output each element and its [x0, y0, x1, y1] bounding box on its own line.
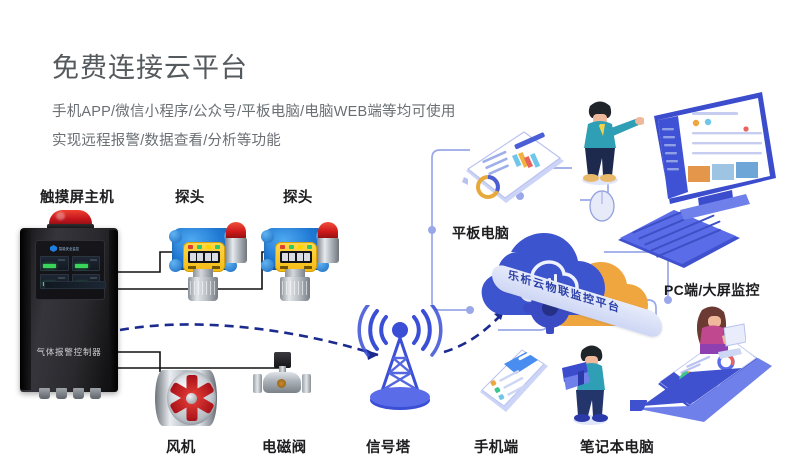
label-valve: 电磁阀: [262, 436, 306, 457]
probe-2-alarm-light-icon: [317, 222, 339, 264]
probe-lcd-display: [188, 251, 220, 263]
label-phone: 手机端: [474, 436, 518, 457]
channel-cell: [72, 256, 101, 271]
probe-sensor-head: [280, 277, 310, 301]
channel-cell: [40, 256, 69, 271]
label-fan: 风机: [166, 436, 196, 457]
signal-tower-icon: [352, 305, 448, 417]
probe-display-face: [183, 242, 225, 272]
gas-alarm-controller: 智能安全监控 气体报警控制器: [20, 228, 118, 398]
label-laptop: 笔记本电脑: [580, 436, 654, 457]
smartphone-icon: [474, 344, 554, 426]
controller-front-label: 气体报警控制器: [20, 346, 118, 358]
label-controller: 触摸屏主机: [40, 186, 114, 207]
person-holding-laptop-illustration: [558, 338, 620, 431]
probe-display-face: [275, 242, 317, 272]
controller-brand: 智能安全监控: [50, 244, 92, 253]
subtitle-line-1: 手机APP/微信小程序/公众号/平板电脑/电脑WEB端等均可使用: [52, 100, 456, 121]
probe-sensor-head: [188, 277, 218, 301]
cable-glands: [39, 388, 101, 400]
probe-1-alarm-light-icon: [225, 222, 247, 264]
label-probe-1: 探头: [175, 186, 205, 207]
infographic-canvas: 免费连接云平台 手机APP/微信小程序/公众号/平板电脑/电脑WEB端等均可使用…: [0, 0, 790, 476]
fan-icon: [155, 370, 217, 428]
solenoid-valve-icon: [251, 352, 313, 402]
label-tower: 信号塔: [366, 436, 410, 457]
label-pc: PC端/大屏监控: [664, 280, 760, 300]
person-using-laptop-illustration: [688, 302, 746, 377]
label-tablet: 平板电脑: [452, 223, 509, 243]
label-probe-2: 探头: [283, 186, 313, 207]
probe-indicator-leds: [280, 245, 312, 249]
page-title: 免费连接云平台: [52, 46, 248, 85]
subtitle-line-2: 实现远程报警/数据查看/分析等功能: [52, 129, 281, 150]
alarm-beacon-icon: [47, 210, 94, 230]
tablet-icon: [452, 125, 568, 211]
probe-lcd-display: [280, 251, 312, 263]
controller-status-strip: [44, 281, 106, 289]
brand-text: 智能安全监控: [59, 247, 79, 251]
person-pointing-illustration: [578, 96, 644, 191]
brand-mark-icon: [50, 245, 57, 252]
probe-indicator-leds: [188, 245, 220, 249]
mouse-icon: [588, 186, 616, 222]
controller-panel: 智能安全监控: [35, 240, 105, 300]
desktop-monitor-icon: [636, 92, 786, 222]
